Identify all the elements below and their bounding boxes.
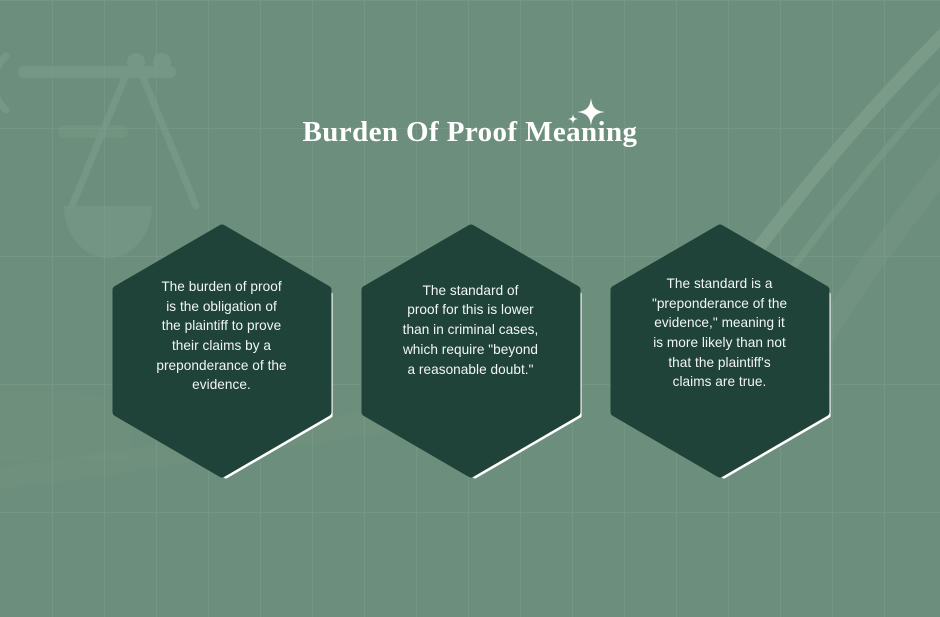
title-block: Burden Of Proof Meaning	[0, 118, 940, 147]
hexagon-card-row: The burden of proof is the obligation of…	[0, 0, 940, 617]
hexagon-card-text: The standard of proof for this is lower …	[374, 228, 567, 476]
page-title: Burden Of Proof Meaning	[303, 118, 638, 147]
hexagon-card[interactable]: The standard of proof for this is lower …	[360, 228, 581, 476]
hexagon-card-text: The burden of proof is the obligation of…	[125, 228, 318, 476]
hexagon-card-text: The standard is a "preponderance of the …	[623, 228, 816, 476]
hexagon-card[interactable]: The burden of proof is the obligation of…	[111, 228, 332, 476]
hexagon-card[interactable]: The standard is a "preponderance of the …	[609, 228, 830, 476]
